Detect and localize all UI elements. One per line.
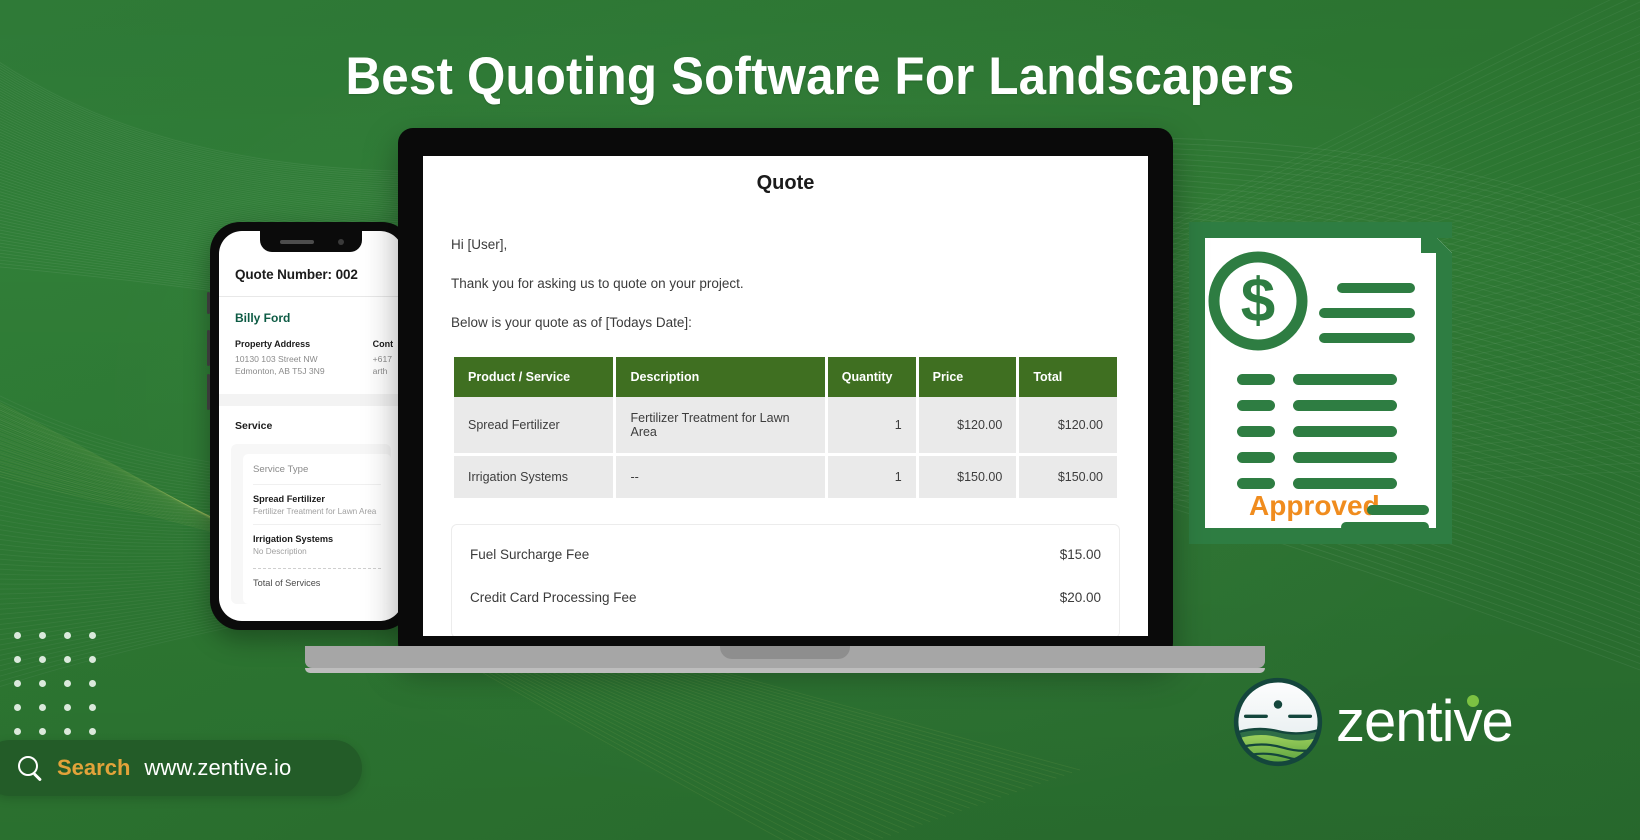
table-row: Irrigation Systems -- 1 $150.00 $150.00 — [454, 456, 1117, 498]
decorative-dot — [89, 728, 96, 735]
search-label: Search — [57, 755, 130, 781]
phone-service-description: No Description — [253, 547, 381, 556]
search-url-text: www.zentive.io — [144, 755, 291, 781]
logo-accent-dot — [1467, 695, 1479, 707]
decorative-dot — [14, 704, 21, 711]
fee-amount: $15.00 — [1060, 547, 1101, 562]
phone-screen: Quote Number: 002 Billy Ford Property Ad… — [219, 231, 403, 621]
laptop-lid: Quote Hi [User], Thank you for asking us… — [398, 128, 1173, 658]
phone-property-address-label: Property Address — [235, 339, 325, 349]
cell-quantity: 1 — [828, 397, 916, 453]
column-header-quantity: Quantity — [828, 357, 916, 397]
phone-property-address-block: Property Address 10130 103 Street NW Edm… — [235, 339, 325, 378]
phone-service-heading: Service — [235, 420, 387, 432]
decorative-dot — [89, 704, 96, 711]
phone-volume-down-button[interactable] — [207, 374, 210, 410]
phone-section-band — [219, 394, 403, 406]
brand-wordmark-text: zentive — [1336, 689, 1513, 754]
decorative-dot — [64, 728, 71, 735]
decorative-dot — [39, 632, 46, 639]
phone-quote-number: Quote Number: 002 — [235, 267, 387, 282]
quote-line-items-table: Product / Service Description Quantity P… — [451, 357, 1120, 498]
decorative-dot — [14, 728, 21, 735]
decorative-dot — [14, 656, 21, 663]
phone-contact-line2: arth — [373, 365, 394, 377]
laptop-screen: Quote Hi [User], Thank you for asking us… — [423, 156, 1148, 636]
column-header-product: Product / Service — [454, 357, 613, 397]
fee-label: Credit Card Processing Fee — [470, 590, 637, 605]
phone-service-name: Irrigation Systems — [253, 534, 381, 544]
decorative-dot — [89, 656, 96, 663]
fee-label: Fuel Surcharge Fee — [470, 547, 589, 562]
cell-product: Spread Fertilizer — [454, 397, 613, 453]
decorative-dot — [89, 680, 96, 687]
decorative-dot — [14, 632, 21, 639]
decorative-dot — [64, 632, 71, 639]
laptop-foot — [305, 668, 1265, 673]
cell-description: Fertilizer Treatment for Lawn Area — [616, 397, 824, 453]
brand-wordmark: zentive — [1336, 693, 1513, 751]
laptop-base — [305, 646, 1265, 668]
column-header-total: Total — [1019, 357, 1117, 397]
status-badge: Approved — [1249, 490, 1380, 521]
search-icon — [18, 756, 43, 781]
phone-service-list: Service Type Spread Fertilizer Fertilize… — [243, 454, 391, 604]
quote-document: Quote Hi [User], Thank you for asking us… — [423, 156, 1148, 636]
decorative-dot — [39, 704, 46, 711]
decorative-dot — [64, 656, 71, 663]
decorative-dot — [39, 728, 46, 735]
decorative-dot — [14, 680, 21, 687]
fee-row: Credit Card Processing Fee $20.00 — [470, 584, 1101, 627]
cell-price: $120.00 — [919, 397, 1017, 453]
decorative-dot — [89, 632, 96, 639]
divider — [219, 296, 403, 297]
phone-contact-label: Cont — [373, 339, 394, 349]
phone-property-address-line2: Edmonton, AB T5J 3N9 — [235, 365, 325, 377]
table-header-row: Product / Service Description Quantity P… — [454, 357, 1117, 397]
table-row: Spread Fertilizer Fertilizer Treatment f… — [454, 397, 1117, 453]
phone-service-type-header: Service Type — [253, 464, 381, 484]
zentive-landscape-logo — [1232, 676, 1324, 768]
phone-service-name: Spread Fertilizer — [253, 494, 381, 504]
document-title: Quote — [451, 172, 1120, 195]
phone-property-address-line1: 10130 103 Street NW — [235, 353, 325, 365]
column-header-price: Price — [919, 357, 1017, 397]
cell-total: $150.00 — [1019, 456, 1117, 498]
cell-product: Irrigation Systems — [454, 456, 613, 498]
cell-price: $150.00 — [919, 456, 1017, 498]
phone-service-description: Fertilizer Treatment for Lawn Area — [253, 507, 381, 516]
phone-speaker — [280, 240, 314, 244]
phone-mockup: Quote Number: 002 Billy Ford Property Ad… — [210, 222, 412, 630]
phone-quote-view: Quote Number: 002 Billy Ford Property Ad… — [219, 231, 403, 621]
document-greeting: Hi [User], — [451, 237, 1120, 252]
decorative-dot — [39, 656, 46, 663]
phone-contact-block: Cont +617 arth — [373, 339, 394, 378]
phone-service-card: Service Type Spread Fertilizer Fertilize… — [231, 444, 391, 604]
cell-description: -- — [616, 456, 824, 498]
decorative-dot — [64, 704, 71, 711]
phone-contact-line1: +617 — [373, 353, 394, 365]
search-bar[interactable]: Search www.zentive.io — [0, 740, 362, 796]
invoice-document-icon: $ Approved — [1189, 222, 1452, 544]
phone-client-name: Billy Ford — [235, 311, 387, 325]
document-paragraph-2: Below is your quote as of [Todays Date]: — [451, 315, 1120, 330]
page-title: Best Quoting Software For Landscapers — [57, 46, 1582, 107]
column-header-description: Description — [616, 357, 824, 397]
phone-camera — [338, 239, 344, 245]
document-paragraph-1: Thank you for asking us to quote on your… — [451, 276, 1120, 291]
list-item[interactable]: Spread Fertilizer Fertilizer Treatment f… — [253, 484, 381, 524]
phone-volume-up-button[interactable] — [207, 330, 210, 366]
phone-total-of-services-label: Total of Services — [253, 569, 381, 588]
phone-notch — [260, 231, 362, 252]
brand-logo: zentive — [1232, 676, 1513, 768]
fees-panel: Fuel Surcharge Fee $15.00 Credit Card Pr… — [451, 524, 1120, 636]
cell-quantity: 1 — [828, 456, 916, 498]
decorative-dot — [64, 680, 71, 687]
phone-address-contact-row: Property Address 10130 103 Street NW Edm… — [235, 339, 387, 378]
dollar-sign-glyph: $ — [1241, 267, 1275, 336]
laptop-mockup: Quote Hi [User], Thank you for asking us… — [398, 128, 1173, 658]
cell-total: $120.00 — [1019, 397, 1117, 453]
decorative-dot — [39, 680, 46, 687]
phone-mute-button[interactable] — [207, 292, 210, 314]
fee-row: Fuel Surcharge Fee $15.00 — [470, 541, 1101, 584]
fee-amount: $20.00 — [1060, 590, 1101, 605]
list-item[interactable]: Irrigation Systems No Description — [253, 524, 381, 564]
